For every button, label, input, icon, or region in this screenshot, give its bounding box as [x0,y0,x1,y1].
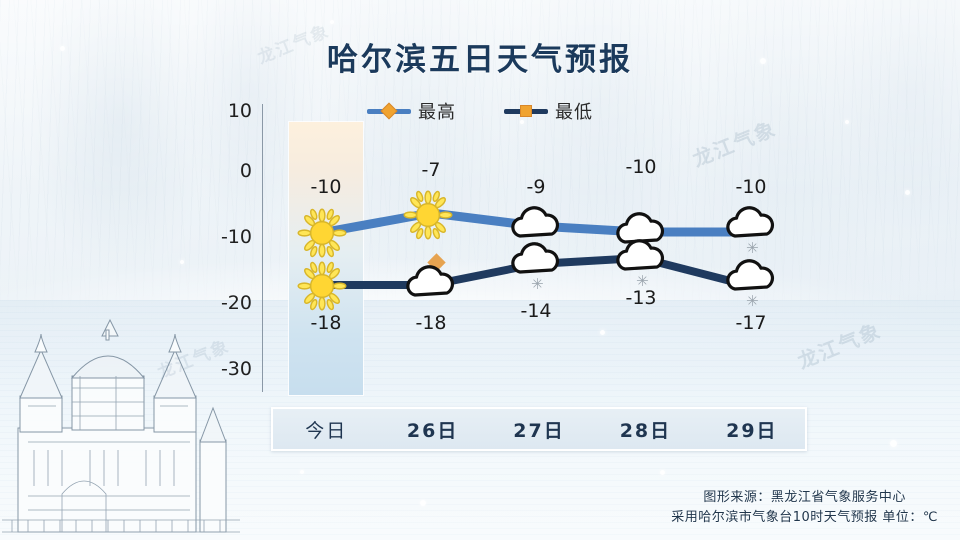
high-temp-label: -10 [310,176,341,198]
day-label-26[interactable]: 26日 [379,409,485,449]
high-temp-label: -9 [527,176,546,198]
high-temp-label: -7 [422,159,441,181]
svg-text:✳: ✳ [636,272,649,290]
day-label-strip: 今日 26日 27日 28日 29日 [271,407,807,451]
snow-cloud-icon: ✳ [720,203,782,261]
day-label-27[interactable]: 27日 [486,409,592,449]
footer-note: 采用哈尔滨市气象台10时天气预报 单位：℃ [671,508,938,528]
svg-text:✳: ✳ [746,292,759,310]
snow-cloud-icon: ✳ [720,256,782,314]
footer: 图形来源：黑龙江省气象服务中心 采用哈尔滨市气象台10时天气预报 单位：℃ [671,488,938,528]
low-temp-label: -14 [520,300,551,322]
svg-text:✳: ✳ [531,275,544,293]
snow-cloud-icon: ✳ [505,239,567,297]
high-temp-label: -10 [735,176,766,198]
sun-icon [291,255,353,317]
low-temp-label: -18 [415,312,446,334]
weather-forecast-graphic: 龙江气象 龙江气象 龙江气象 龙江气象 哈尔滨五日天气预报 最高 最低 [0,0,960,540]
day-label-28[interactable]: 28日 [592,409,698,449]
svg-text:✳: ✳ [746,239,759,257]
footer-source: 图形来源：黑龙江省气象服务中心 [671,488,938,508]
snow-cloud-icon: ✳ [610,236,672,294]
sun-icon [397,184,459,246]
temperature-plot [0,0,960,540]
day-label-today[interactable]: 今日 [273,409,379,449]
cloud-icon [400,262,462,308]
low-temp-label: -17 [735,312,766,334]
high-temp-label: -10 [625,156,656,178]
day-label-29[interactable]: 29日 [699,409,805,449]
